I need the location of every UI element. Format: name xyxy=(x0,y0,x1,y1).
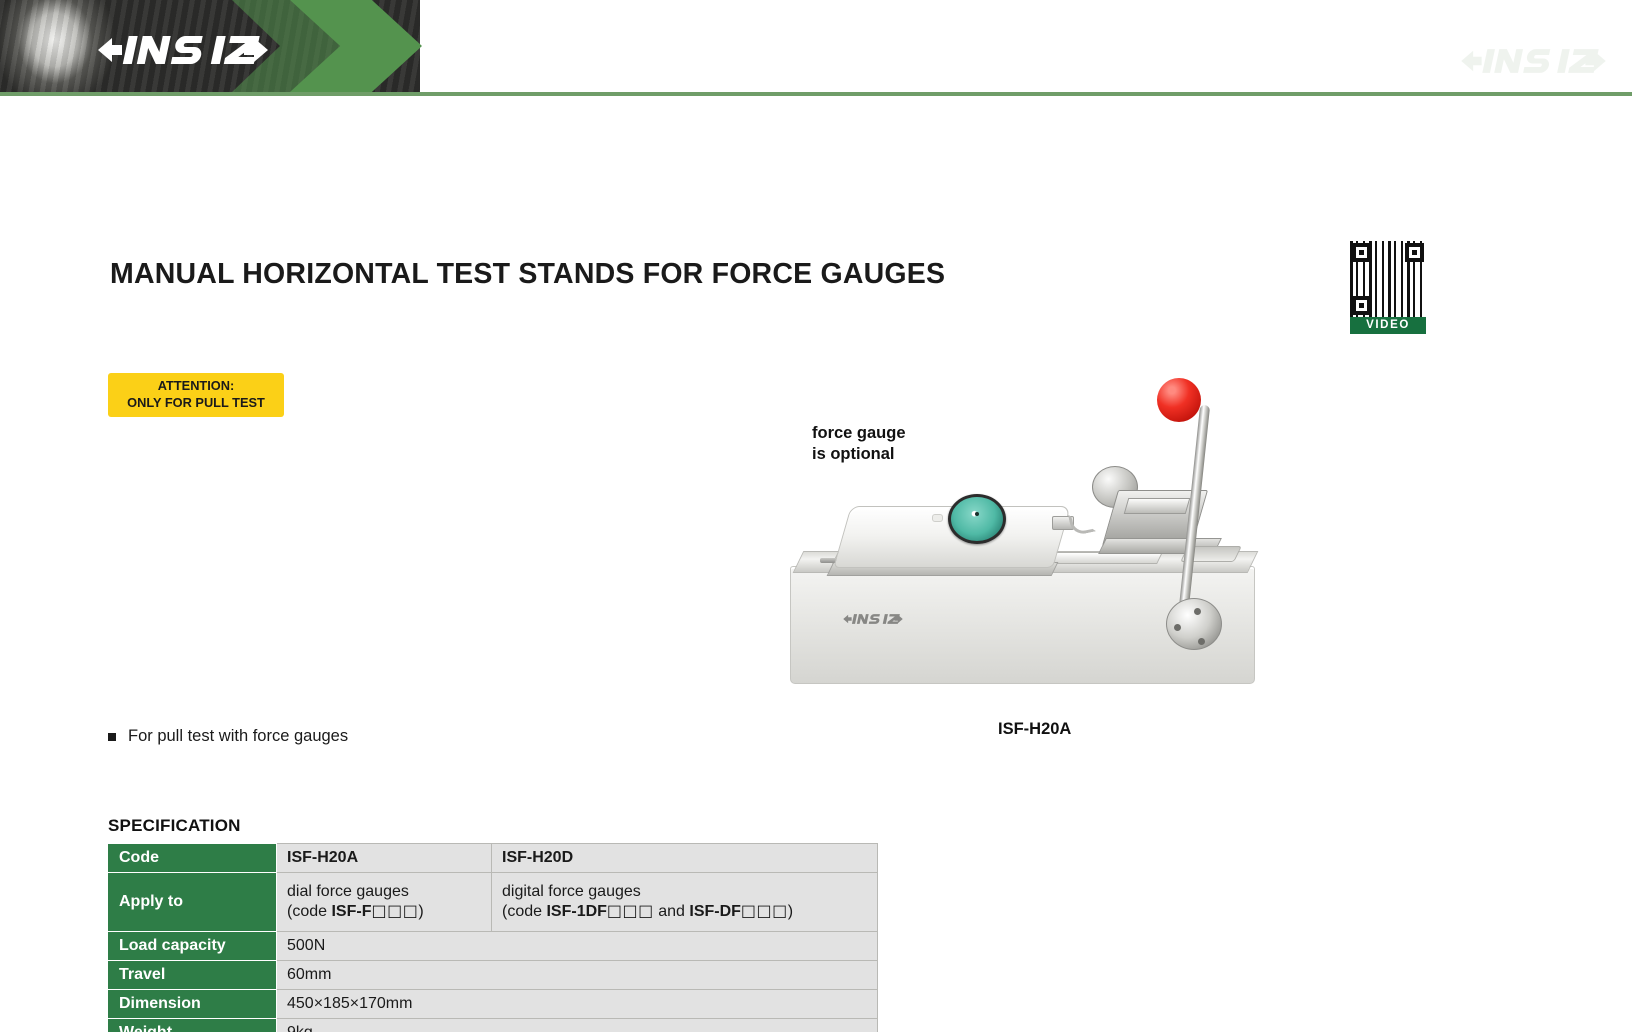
apply-col1-prefix: (code xyxy=(287,903,331,920)
apply-col2-boxes-b: □□□ xyxy=(741,901,788,920)
cell-load-capacity-value: 500N xyxy=(277,932,878,961)
row-label-apply-to: Apply to xyxy=(109,873,277,932)
apply-col2-suffix: ) xyxy=(788,903,793,920)
qr-code-icon[interactable] xyxy=(1350,241,1426,317)
row-label-weight: Weight xyxy=(109,1019,277,1032)
table-row: Weight 9kg xyxy=(109,1019,878,1032)
row-label-travel: Travel xyxy=(109,961,277,990)
video-qr-badge[interactable]: VIDEO xyxy=(1350,241,1426,334)
feature-list: For pull test with force gauges xyxy=(108,726,348,747)
row-label-load-capacity: Load capacity xyxy=(109,932,277,961)
page-content: MANUAL HORIZONTAL TEST STANDS FOR FORCE … xyxy=(0,96,1632,1032)
cell-apply-to-col2: digital force gauges (code ISF-1DF□□□ an… xyxy=(492,873,878,932)
qr-finder-top-left-icon xyxy=(1352,243,1371,262)
page-title: MANUAL HORIZONTAL TEST STANDS FOR FORCE … xyxy=(110,258,945,291)
apply-col2-boxes-a: □□□ xyxy=(607,901,654,920)
cell-code-col1: ISF-H20A xyxy=(277,844,492,873)
pivot-hole-icon xyxy=(1194,608,1201,615)
force-gauge-optional-note: force gauge is optional xyxy=(812,423,906,465)
table-row: Dimension 450×185×170mm xyxy=(109,990,878,1019)
video-label: VIDEO xyxy=(1350,317,1426,334)
cell-apply-to-col1: dial force gauges (code ISF-F□□□) xyxy=(277,873,492,932)
square-bullet-icon xyxy=(108,733,116,741)
qr-finder-bottom-left-icon xyxy=(1352,296,1371,315)
attention-callout: ATTENTION: ONLY FOR PULL TEST xyxy=(108,373,284,417)
product-insize-logo xyxy=(842,612,904,631)
cell-dimension-value: 450×185×170mm xyxy=(277,990,878,1019)
row-label-code: Code xyxy=(109,844,277,873)
attention-line-1: ATTENTION: xyxy=(108,378,284,395)
apply-col1-suffix: ) xyxy=(418,903,423,920)
product-photo-isf-h20a xyxy=(780,366,1280,726)
specification-table: Code ISF-H20A ISF-H20D Apply to dial for… xyxy=(108,843,878,1032)
qr-finder-top-right-icon xyxy=(1405,243,1424,262)
product-caption: ISF-H20A xyxy=(998,720,1071,739)
apply-col2-code-a: ISF-1DF xyxy=(546,903,606,920)
table-row: Code ISF-H20A ISF-H20D xyxy=(109,844,878,873)
cell-travel-value: 60mm xyxy=(277,961,878,990)
pivot-hole-icon xyxy=(1174,624,1181,631)
feature-text: For pull test with force gauges xyxy=(128,726,348,747)
apply-col2-conjunction: and xyxy=(654,903,690,920)
insize-watermark-logo xyxy=(1441,44,1626,83)
table-row: Load capacity 500N xyxy=(109,932,878,961)
insize-logo xyxy=(98,30,268,70)
specification-table-wrapper: Code ISF-H20A ISF-H20D Apply to dial for… xyxy=(108,843,878,1032)
cell-weight-value: 9kg xyxy=(277,1019,878,1032)
dial-needle-pin-icon xyxy=(975,512,979,516)
gauge-button-icon xyxy=(932,514,943,522)
apply-col2-code-b: ISF-DF xyxy=(689,903,741,920)
pivot-hole-icon xyxy=(1198,638,1205,645)
apply-col2-line2: (code ISF-1DF□□□ and ISF-DF□□□) xyxy=(502,901,867,921)
apply-col1-line2: (code ISF-F□□□) xyxy=(287,901,481,921)
table-row: Travel 60mm xyxy=(109,961,878,990)
red-lever-knob xyxy=(1157,378,1201,422)
apply-col1-line1: dial force gauges xyxy=(287,883,481,901)
table-row: Apply to dial force gauges (code ISF-F□□… xyxy=(109,873,878,932)
specification-heading: SPECIFICATION xyxy=(108,816,241,836)
apply-col1-code: ISF-F xyxy=(331,903,371,920)
attention-line-2: ONLY FOR PULL TEST xyxy=(108,395,284,412)
apply-col2-prefix: (code xyxy=(502,903,546,920)
pull-hook-icon xyxy=(1068,510,1096,537)
vice-jaw xyxy=(1124,498,1191,514)
apply-col2-line1: digital force gauges xyxy=(502,883,867,901)
list-item: For pull test with force gauges xyxy=(108,726,348,747)
row-label-dimension: Dimension xyxy=(109,990,277,1019)
apply-col1-boxes: □□□ xyxy=(371,901,418,920)
cell-code-col2: ISF-H20D xyxy=(492,844,878,873)
page-banner xyxy=(0,0,1632,96)
dial-face-icon xyxy=(948,494,1006,544)
